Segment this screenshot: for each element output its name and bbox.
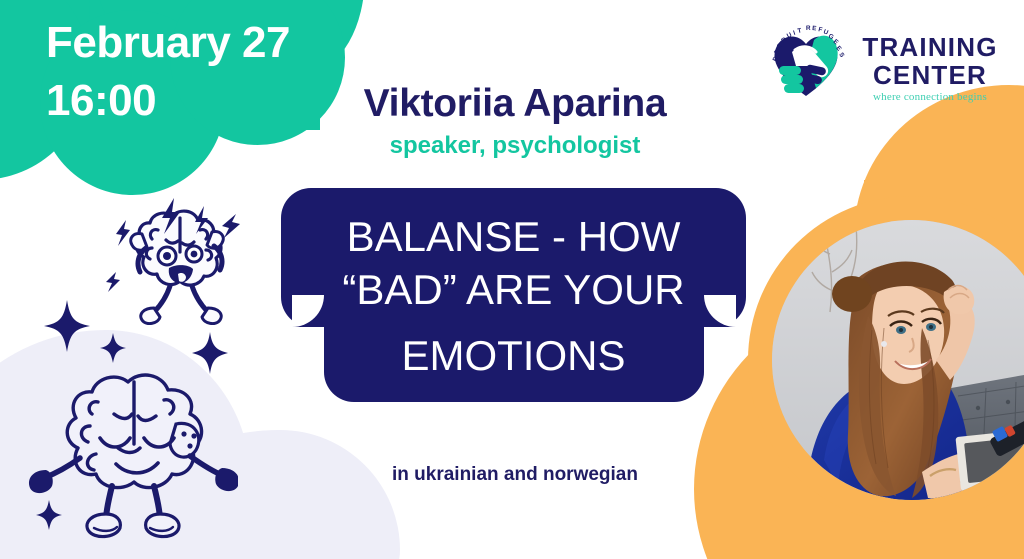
sparkle-medium-icon <box>192 332 228 374</box>
title-block-upper: BALANSE - HOW “BAD” ARE YOUR <box>281 188 746 327</box>
title-notch-left <box>292 295 324 327</box>
logo-tagline: where connection begins <box>856 91 1004 103</box>
logo-line-center: CENTER <box>856 62 1004 88</box>
sparkle-small-icon <box>100 333 126 363</box>
title-line-2: “BAD” ARE YOUR <box>307 263 720 316</box>
svg-text:R: R <box>806 25 811 32</box>
event-poster: February 27 16:00 R <box>0 0 1024 559</box>
sparkle-large-icon <box>44 300 90 352</box>
title-line-3: EMOTIONS <box>344 329 684 382</box>
sparkle-top-icon <box>84 340 85 341</box>
training-center-logo[interactable]: R E C R U I T R E F U G E E S <box>762 18 1002 114</box>
svg-text:T: T <box>797 27 802 35</box>
logo-line-training: TRAINING <box>856 34 1004 60</box>
speaker-name: Viktoriia Aparina <box>300 82 730 126</box>
speaker-role: speaker, psychologist <box>300 132 730 160</box>
logo-wordmark: TRAINING CENTER where connection begins <box>856 34 1004 103</box>
sparkle-tiny-icon <box>36 500 62 530</box>
event-date: February 27 <box>46 14 346 72</box>
languages-note: in ukrainian and norwegian <box>300 464 730 486</box>
title-block-lower: EMOTIONS <box>324 327 704 402</box>
handshake-heart-icon: R E C R U I T R E F U G E E S <box>762 22 850 106</box>
title-block: BALANSE - HOW “BAD” ARE YOUR EMOTIONS <box>281 188 746 402</box>
stressed-brain-character <box>96 196 266 356</box>
title-line-1: BALANSE - HOW <box>307 210 720 263</box>
svg-text:E: E <box>812 25 818 32</box>
title-notch-right <box>704 295 736 327</box>
